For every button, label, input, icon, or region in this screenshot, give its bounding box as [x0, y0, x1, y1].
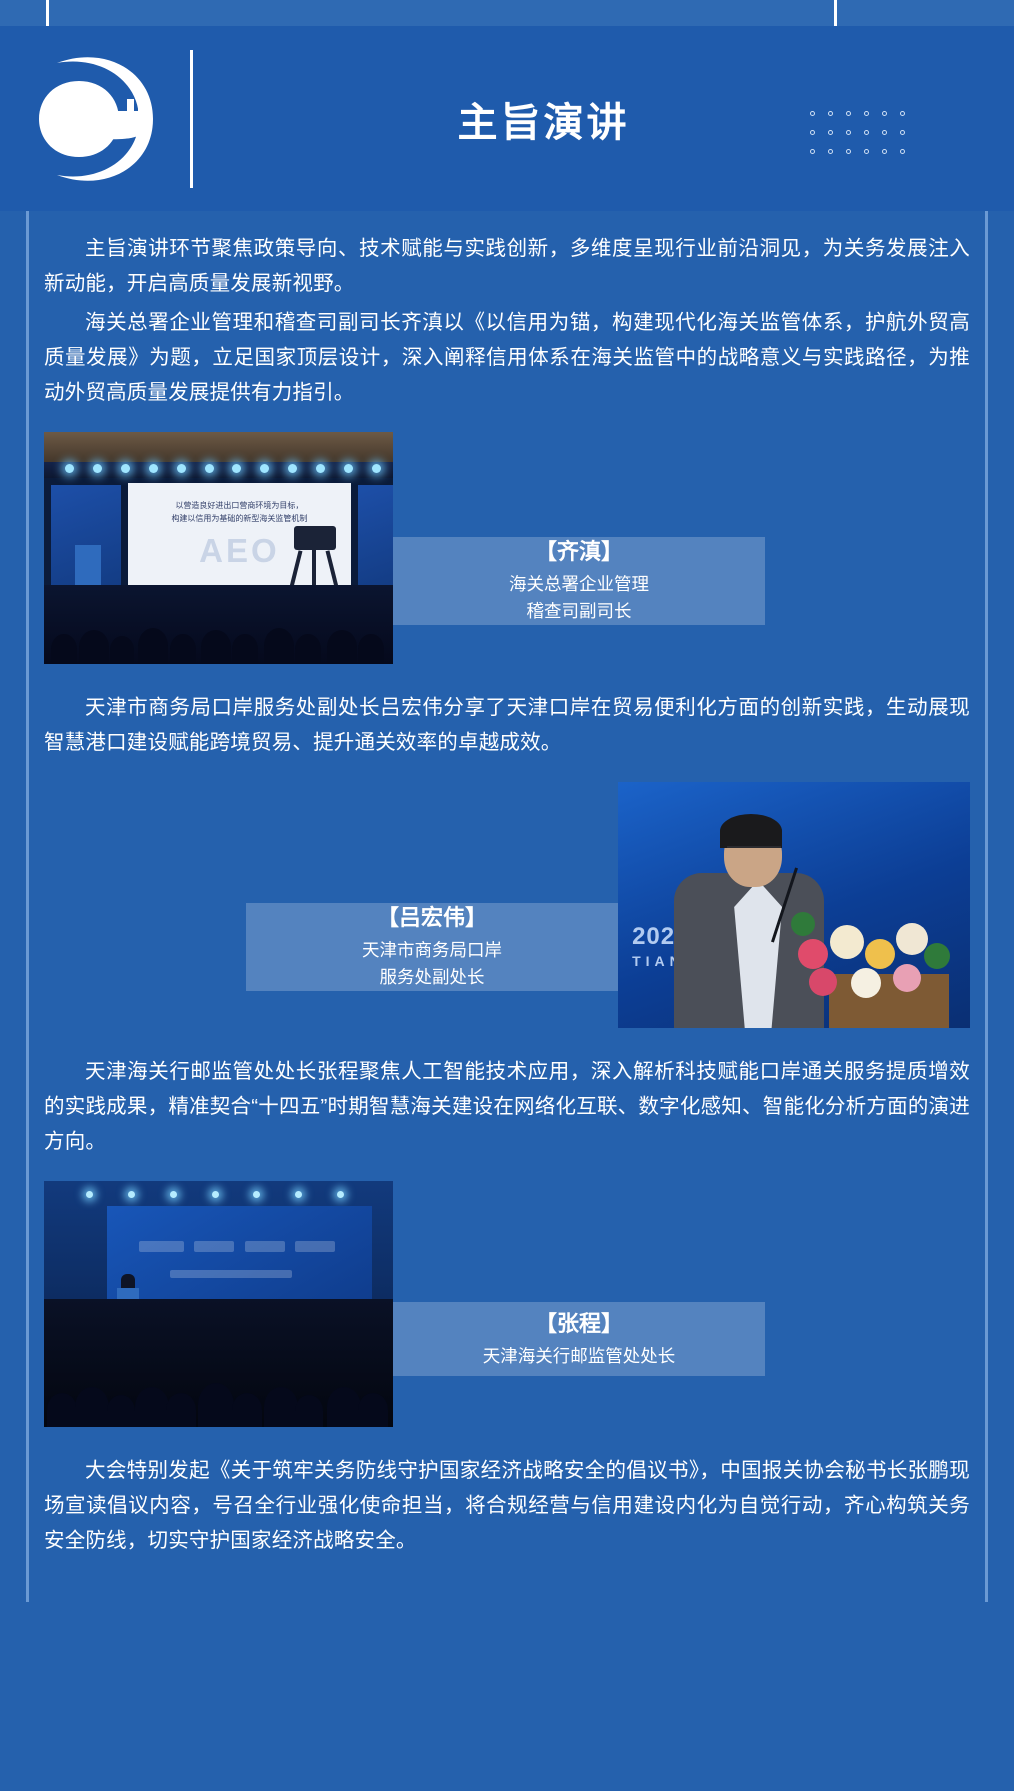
body-paragraph-5: 大会特别发起《关于筑牢关务防线守护国家经济战略安全的倡议书》，中国报关协会秘书长…: [44, 1453, 970, 1558]
speaker-2-title-line-2: 服务处副处长: [256, 964, 608, 991]
top-rail-tick-left: [46, 0, 49, 26]
speaker-2-name: 【吕宏伟】: [256, 901, 608, 935]
speaker-3-title-line-1: 天津海关行邮监管处处长: [403, 1343, 755, 1370]
speaker-1-caption-card: 【齐滇】 海关总署企业管理 稽查司副司长: [393, 537, 765, 625]
speaker-1-photo: 以营造良好进出口营商环境为目标， 构建以信用为基础的新型海关监管机制 AEO: [44, 432, 393, 664]
intro-paragraph-1: 主旨演讲环节聚焦政策导向、技术赋能与实践创新，多维度呈现行业前沿洞见，为关务发展…: [44, 231, 970, 301]
speaker-3-photo: [44, 1181, 393, 1427]
page-title: 主旨演讲: [458, 90, 630, 148]
speaker-block-2: 【吕宏伟】 天津市商务局口岸 服务处副处长 2025.12 TIAN: [44, 782, 970, 1028]
speaker-1-screen-line-2: 构建以信用为基础的新型海关监管机制: [171, 514, 307, 523]
speaker-block-3: 【张程】 天津海关行邮监管处处长: [44, 1181, 970, 1427]
speaker-2-title-line-1: 天津市商务局口岸: [256, 937, 608, 964]
speaker-2-photo: 2025.12 TIAN: [618, 782, 970, 1028]
speaker-1-title-line-2: 稽查司副司长: [403, 598, 755, 625]
speaker-block-1: 以营造良好进出口营商环境为目标， 构建以信用为基础的新型海关监管机制 AEO: [44, 432, 970, 664]
body-paragraph-4: 天津海关行邮监管处处长张程聚焦人工智能技术应用，深入解析科技赋能口岸通关服务提质…: [44, 1054, 970, 1159]
page-body: 主旨演讲环节聚焦政策导向、技术赋能与实践创新，多维度呈现行业前沿洞见，为关务发展…: [0, 211, 1014, 1602]
speaker-2-caption-card: 【吕宏伟】 天津市商务局口岸 服务处副处长: [246, 903, 618, 991]
speaker-1-screen-line-1: 以营造良好进出口营商环境为目标，: [175, 501, 303, 510]
key-in-crescent-icon: [27, 49, 161, 189]
top-rail-tick-right: [834, 0, 837, 26]
speaker-3-name: 【张程】: [403, 1307, 755, 1341]
top-rail: [0, 0, 1014, 26]
intro-paragraph-2: 海关总署企业管理和稽查司副司长齐滇以《以信用为锚，构建现代化海关监管体系，护航外…: [44, 305, 970, 410]
brand-logo: [0, 49, 188, 189]
speaker-1-title-line-1: 海关总署企业管理: [403, 571, 755, 598]
dot-grid-decoration-icon: [810, 111, 918, 168]
page-header: 主旨演讲: [0, 26, 1014, 211]
speaker-3-caption-card: 【张程】 天津海关行邮监管处处长: [393, 1302, 765, 1376]
speaker-1-name: 【齐滇】: [403, 535, 755, 569]
body-paragraph-3: 天津市商务局口岸服务处副处长吕宏伟分享了天津口岸在贸易便利化方面的创新实践，生动…: [44, 690, 970, 760]
